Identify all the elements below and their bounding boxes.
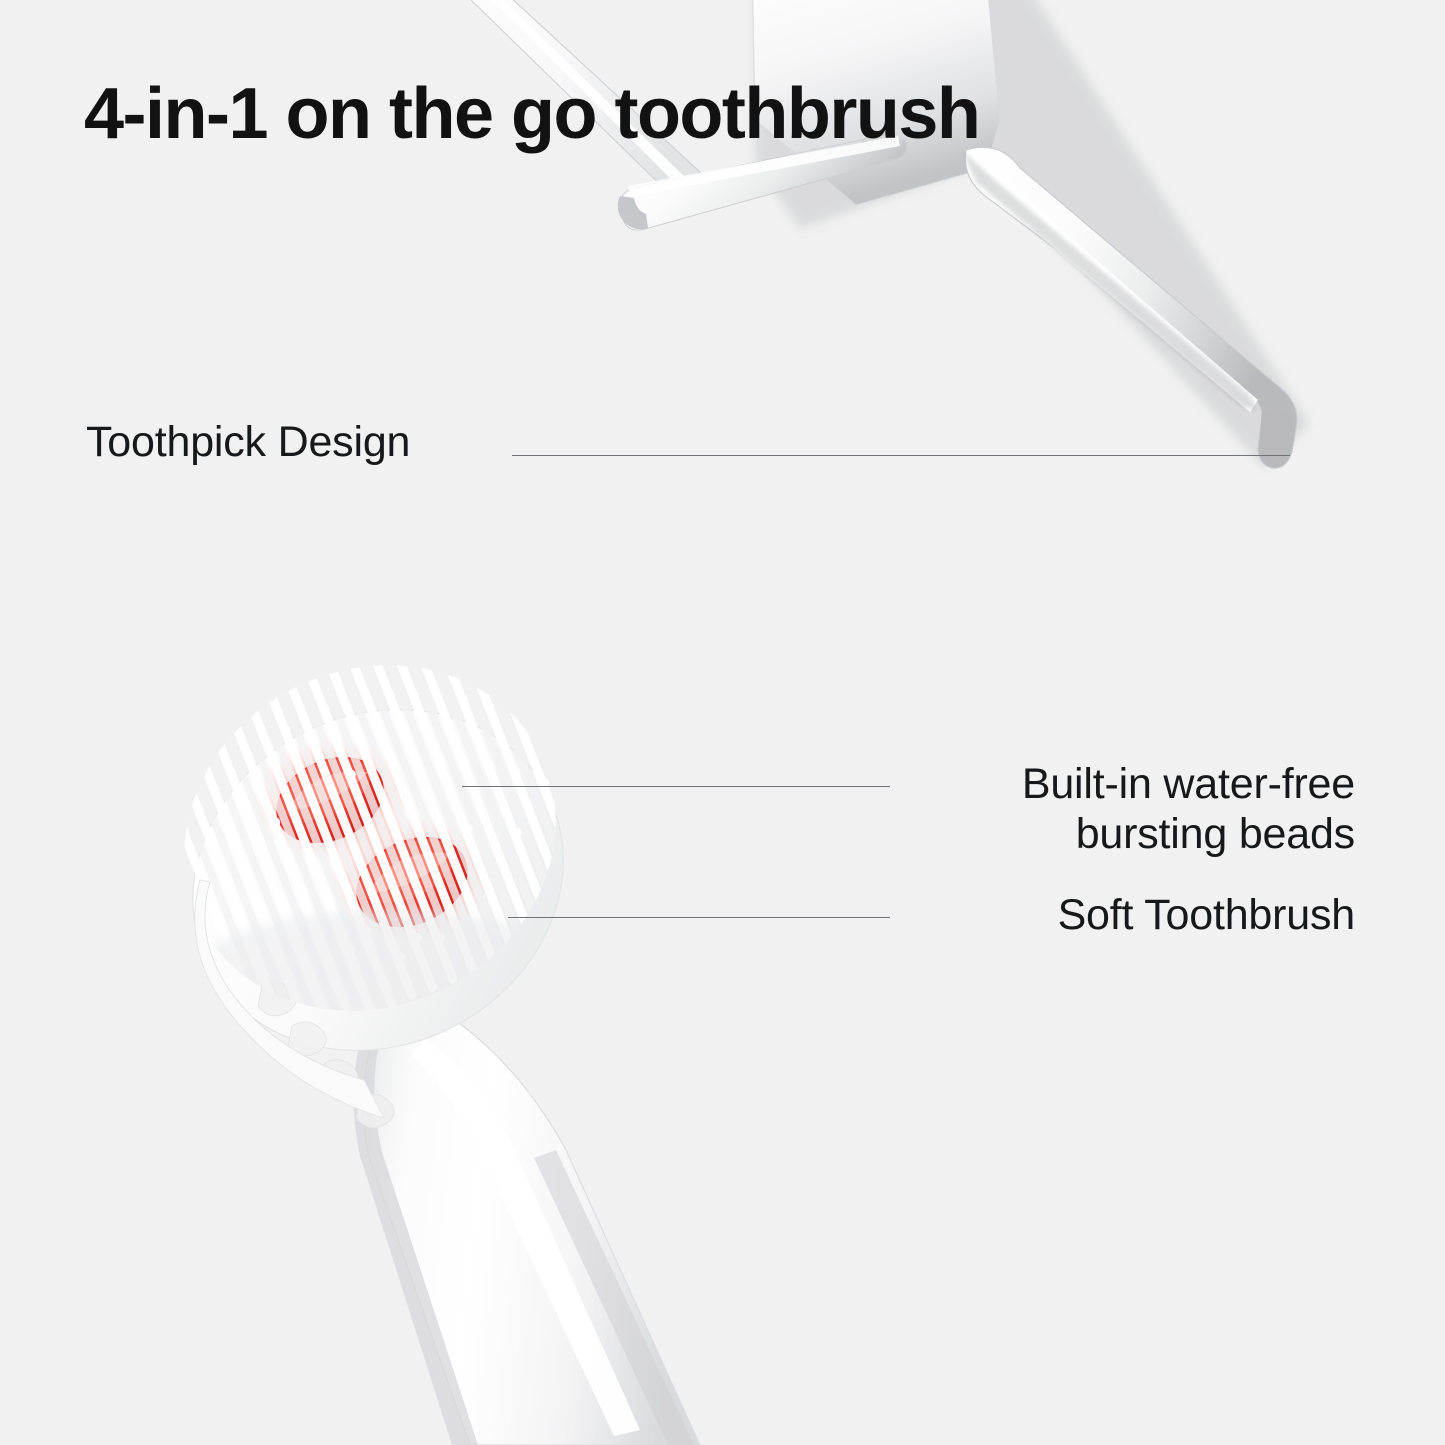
toothpick-assembly — [430, 0, 1310, 469]
product-infographic: Cleaings — [0, 0, 1445, 1445]
callout-bursting-beads: Built-in water-free bursting beads — [1022, 760, 1355, 860]
callout-soft-toothbrush: Soft Toothbrush — [1058, 891, 1355, 941]
toothpick-tip — [1260, 408, 1290, 467]
callout-toothpick-design: Toothpick Design — [86, 418, 410, 468]
toothbrush-assembly: Cleaings — [134, 603, 815, 1445]
leader-line-soft — [508, 917, 890, 918]
page-title: 4-in-1 on the go toothbrush — [84, 78, 979, 150]
leader-line-toothpick — [512, 455, 1290, 456]
leader-line-beads — [462, 786, 890, 787]
product-illustration: Cleaings — [0, 0, 1445, 1445]
